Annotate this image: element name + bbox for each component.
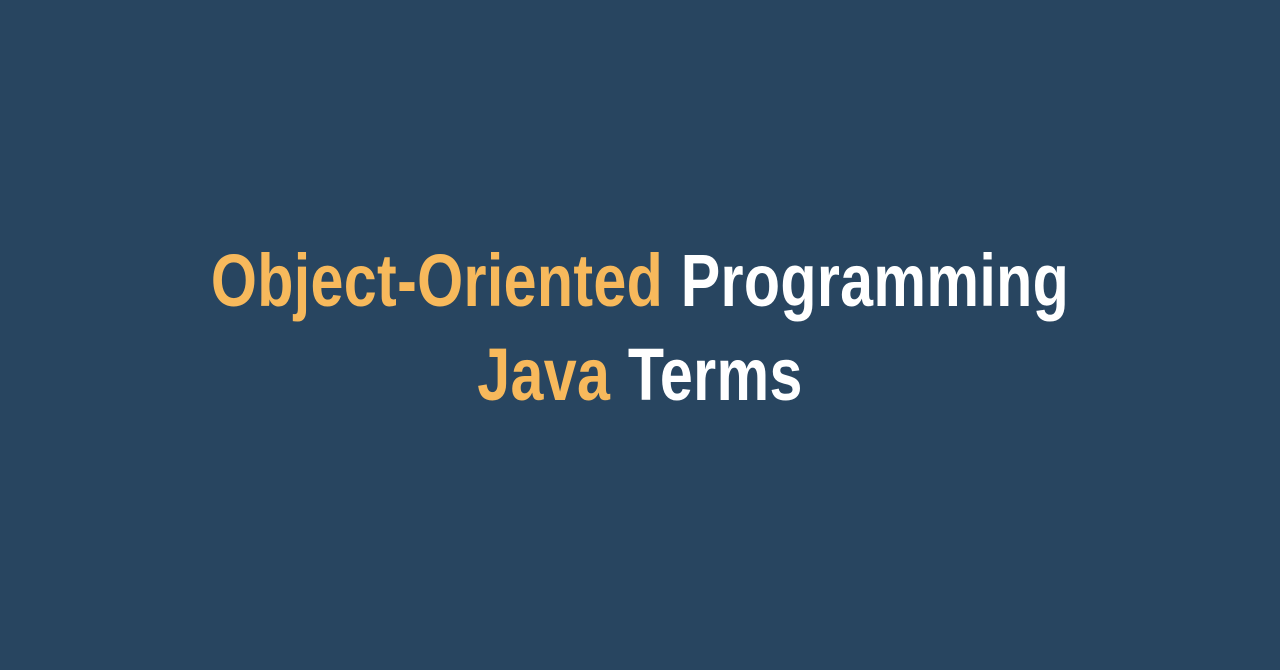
title-line-1: Object-OrientedProgramming — [128, 234, 1152, 328]
title-line-1-plain: Programming — [681, 239, 1069, 322]
title-line-2-plain: Terms — [628, 333, 803, 416]
title-line-2: JavaTerms — [128, 328, 1152, 422]
page-title: Object-OrientedProgramming JavaTerms — [0, 234, 1280, 422]
title-line-2-accent: Java — [477, 333, 610, 416]
hero-banner: Object-OrientedProgramming JavaTerms — [0, 0, 1280, 670]
title-line-1-accent: Object-Oriented — [211, 239, 663, 322]
